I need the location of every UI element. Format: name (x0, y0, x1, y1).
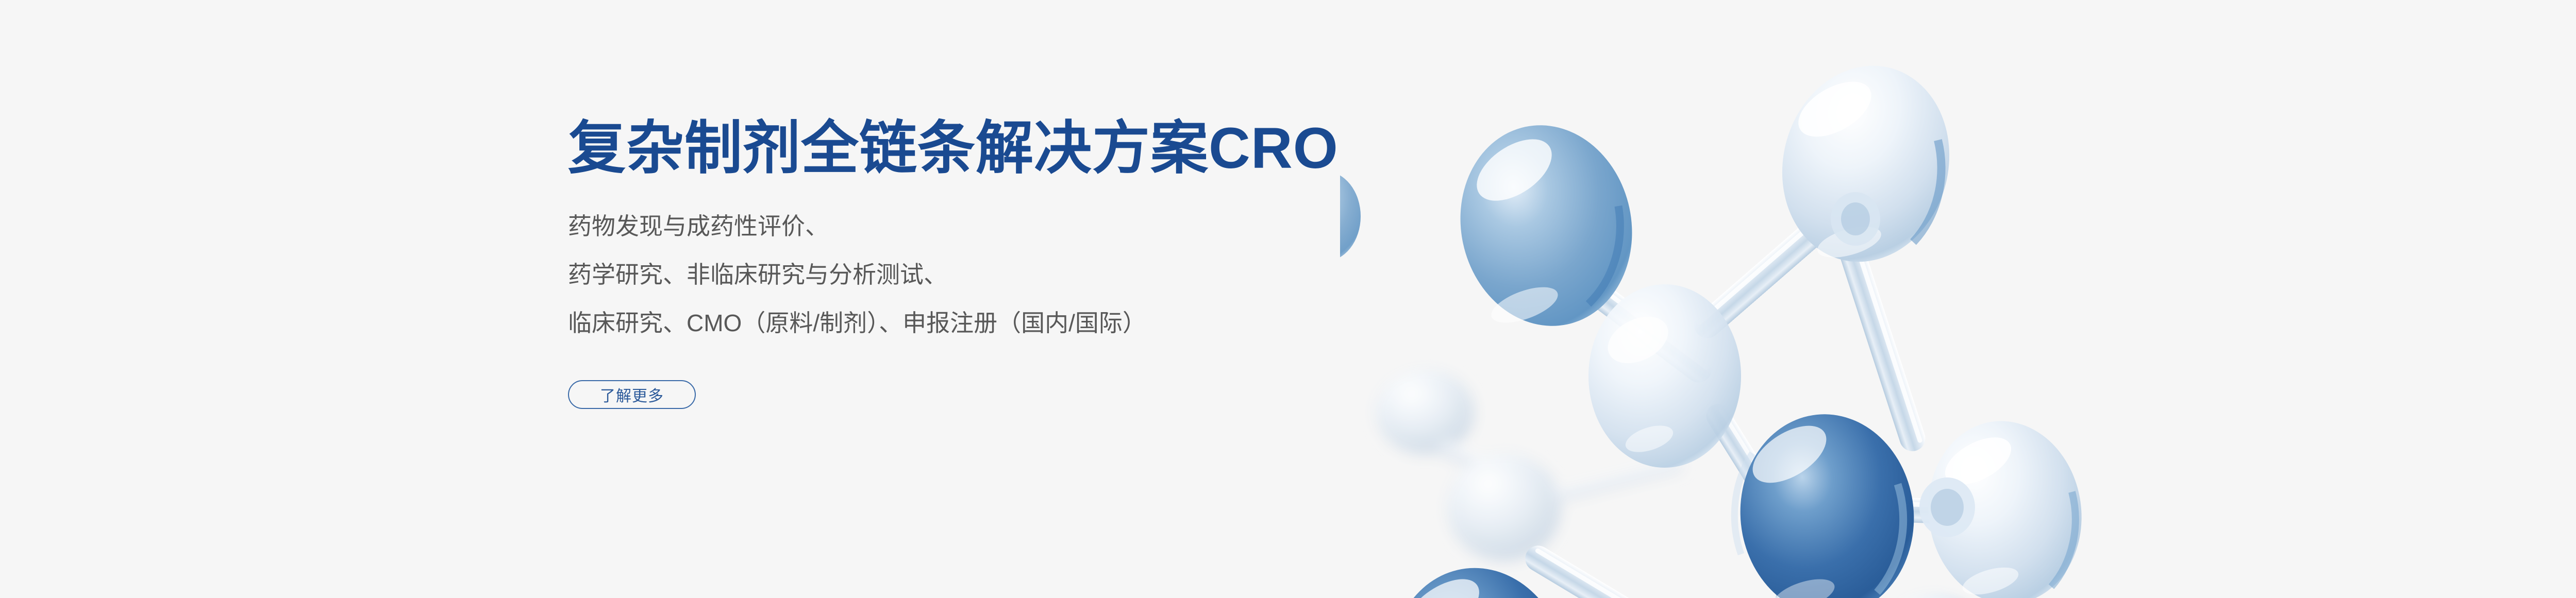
hero-text-block: 复杂制剂全链条解决方案CRO 药物发现与成药性评价、 药学研究、非临床研究与分析… (568, 114, 1341, 409)
atom-pale-upper-centre (1588, 284, 1741, 468)
subtitle-line-2: 药学研究、非临床研究与分析测试、 (568, 263, 1341, 286)
page-title: 复杂制剂全链条解决方案CRO (568, 114, 1341, 182)
hero-subtitle-block: 药物发现与成药性评价、 药学研究、非临床研究与分析测试、 临床研究、CMO（原料… (568, 214, 1341, 335)
atom-deep-blue-centre (1730, 406, 1923, 598)
subtitle-line-3: 临床研究、CMO（原料/制剂）、申报注册（国内/国际） (568, 311, 1341, 335)
glass-molecule-illustration (1340, 0, 2237, 598)
hero-banner: 复杂制剂全链条解决方案CRO 药物发现与成药性评价、 药学研究、非临床研究与分析… (0, 0, 2576, 598)
subtitle-line-1: 药物发现与成药性评价、 (568, 214, 1341, 238)
learn-more-button[interactable]: 了解更多 (568, 380, 696, 409)
atom-cropped-left-edge (1340, 171, 1361, 262)
atom-pale-right (1917, 411, 2094, 598)
